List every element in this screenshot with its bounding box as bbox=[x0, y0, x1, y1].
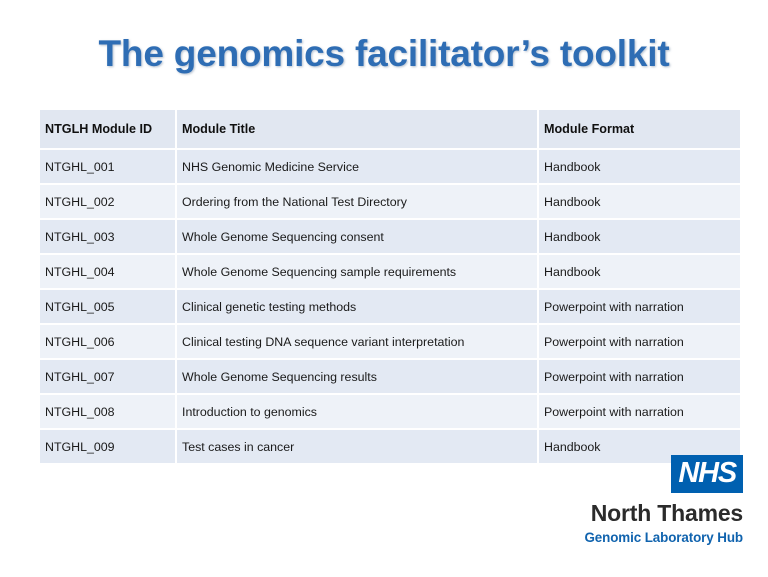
cell-module-id: NTGHL_002 bbox=[40, 185, 177, 220]
cell-module-title: Whole Genome Sequencing sample requireme… bbox=[177, 255, 539, 290]
cell-module-title: Ordering from the National Test Director… bbox=[177, 185, 539, 220]
cell-module-title: Clinical testing DNA sequence variant in… bbox=[177, 325, 539, 360]
table-header-row: NTGLH Module ID Module Title Module Form… bbox=[40, 110, 740, 150]
nhs-wordmark-icon: NHS bbox=[671, 455, 743, 493]
cell-module-id: NTGHL_006 bbox=[40, 325, 177, 360]
cell-module-format: Handbook bbox=[539, 255, 740, 290]
cell-module-title: Whole Genome Sequencing results bbox=[177, 360, 539, 395]
column-header-module-format: Module Format bbox=[539, 110, 740, 150]
cell-module-id: NTGHL_005 bbox=[40, 290, 177, 325]
cell-module-format: Powerpoint with narration bbox=[539, 290, 740, 325]
organisation-name: North Thames bbox=[523, 501, 743, 527]
table-row: NTGHL_006 Clinical testing DNA sequence … bbox=[40, 325, 740, 360]
cell-module-title: Whole Genome Sequencing consent bbox=[177, 220, 539, 255]
cell-module-title: Clinical genetic testing methods bbox=[177, 290, 539, 325]
table-row: NTGHL_002 Ordering from the National Tes… bbox=[40, 185, 740, 220]
cell-module-format: Handbook bbox=[539, 150, 740, 185]
column-header-module-id: NTGLH Module ID bbox=[40, 110, 177, 150]
table-body: NTGHL_001 NHS Genomic Medicine Service H… bbox=[40, 150, 740, 463]
cell-module-id: NTGHL_001 bbox=[40, 150, 177, 185]
cell-module-title: Introduction to genomics bbox=[177, 395, 539, 430]
cell-module-format: Powerpoint with narration bbox=[539, 325, 740, 360]
table-row: NTGHL_007 Whole Genome Sequencing result… bbox=[40, 360, 740, 395]
nhs-logo: NHS North Thames Genomic Laboratory Hub bbox=[523, 455, 743, 545]
genomics-module-table: NTGLH Module ID Module Title Module Form… bbox=[40, 110, 740, 463]
table-row: NTGHL_003 Whole Genome Sequencing consen… bbox=[40, 220, 740, 255]
slide-canvas: The genomics facilitator’s toolkit NTGLH… bbox=[0, 0, 768, 577]
cell-module-id: NTGHL_003 bbox=[40, 220, 177, 255]
page-title: The genomics facilitator’s toolkit bbox=[0, 33, 768, 75]
table-row: NTGHL_001 NHS Genomic Medicine Service H… bbox=[40, 150, 740, 185]
table-row: NTGHL_004 Whole Genome Sequencing sample… bbox=[40, 255, 740, 290]
cell-module-title: Test cases in cancer bbox=[177, 430, 539, 463]
cell-module-id: NTGHL_004 bbox=[40, 255, 177, 290]
cell-module-id: NTGHL_007 bbox=[40, 360, 177, 395]
organisation-subtitle: Genomic Laboratory Hub bbox=[523, 530, 743, 545]
cell-module-id: NTGHL_008 bbox=[40, 395, 177, 430]
cell-module-format: Powerpoint with narration bbox=[539, 360, 740, 395]
cell-module-format: Handbook bbox=[539, 185, 740, 220]
column-header-module-title: Module Title bbox=[177, 110, 539, 150]
cell-module-id: NTGHL_009 bbox=[40, 430, 177, 463]
cell-module-title: NHS Genomic Medicine Service bbox=[177, 150, 539, 185]
table-header: NTGLH Module ID Module Title Module Form… bbox=[40, 110, 740, 150]
cell-module-format: Powerpoint with narration bbox=[539, 395, 740, 430]
table-row: NTGHL_005 Clinical genetic testing metho… bbox=[40, 290, 740, 325]
cell-module-format: Handbook bbox=[539, 220, 740, 255]
table-row: NTGHL_008 Introduction to genomics Power… bbox=[40, 395, 740, 430]
